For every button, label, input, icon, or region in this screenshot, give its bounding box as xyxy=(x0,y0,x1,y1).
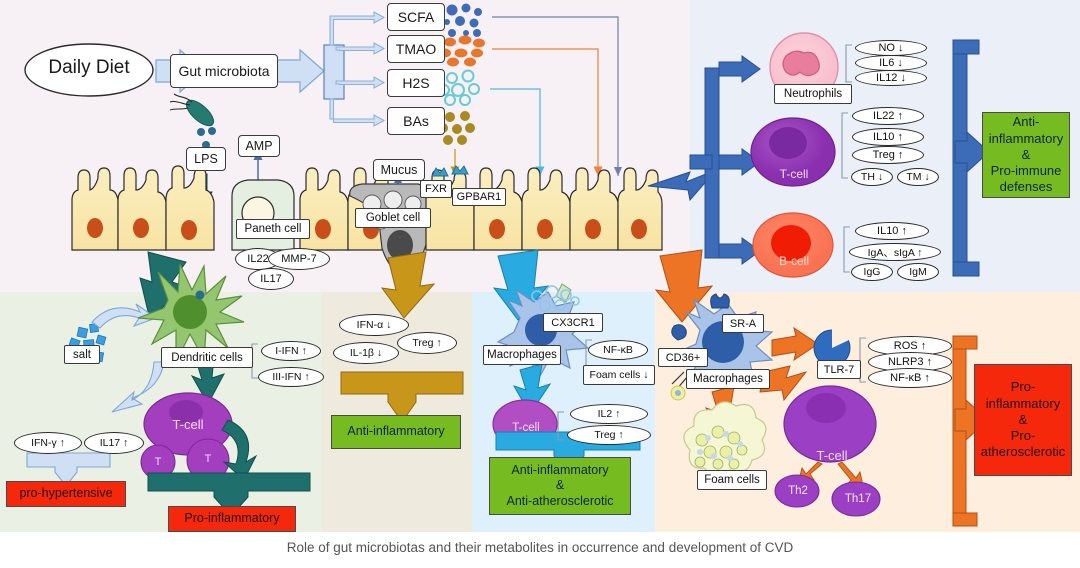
dendritic-cells-label: Dendritic cells xyxy=(161,347,253,368)
tcell-marker-il10: IL10 ↑ xyxy=(852,128,924,146)
salt-label: salt xyxy=(64,345,100,364)
tcell-small-1-label: T xyxy=(150,455,166,469)
foam-cells-cluster xyxy=(684,402,766,475)
paneth-cytokine-il17: IL17 xyxy=(248,268,294,290)
th2-label: Th2 xyxy=(783,484,813,498)
beige-marker-ifn-alpha: IFN-α ↓ xyxy=(339,314,409,336)
blue-tcell-marker-treg: Treg ↑ xyxy=(567,425,651,445)
anti-inflammatory-box: Anti-inflammatory xyxy=(331,415,461,449)
cx3cr1-label: CX3CR1 xyxy=(543,313,603,332)
macrophages-peach-label: Macrophages xyxy=(686,369,770,389)
macrophages-blue-label: Macrophages xyxy=(483,345,561,365)
splitter-bar xyxy=(324,45,344,99)
dc-cytokine-ifn-gamma: IFN-γ ↑ xyxy=(14,432,82,454)
bcell-marker-igg: IgG xyxy=(851,263,893,281)
anti-atherosclerotic-box: Anti-inflammatory & Anti-atherosclerotic xyxy=(489,457,631,515)
th17-label: Th17 xyxy=(842,492,874,506)
neutrophil-marker-il12: IL12 ↓ xyxy=(855,70,927,86)
tcell-marker-treg: Treg ↑ xyxy=(852,146,924,164)
peach-marker-nfkb: NF-κB ↑ xyxy=(868,368,952,388)
metabolite-box-tmao: TMAO xyxy=(387,35,445,63)
figure-caption: Role of gut microbiotas and their metabo… xyxy=(0,540,1080,555)
arrow-tcell-proliferate xyxy=(222,420,256,480)
blue-marker-nfkb: NF-κB xyxy=(588,340,648,360)
cd36-label: CD36+ xyxy=(658,348,708,367)
arrow-microbiota-to-split xyxy=(276,50,324,92)
paneth-cell-label: Paneth cell xyxy=(236,219,310,239)
bacterium-icon xyxy=(170,94,218,149)
figure-root: Daily Diet Gut microbiota SCFA TMAO H2S … xyxy=(0,0,1080,568)
h2s-particles xyxy=(439,71,479,106)
pro-inflammatory-box: Pro-inflammatory xyxy=(168,506,296,532)
tcell-immune-label: T-cell xyxy=(766,166,822,182)
bcell-marker-il10: IL10 ↑ xyxy=(855,222,929,240)
gut-microbiota-box: Gut microbiota xyxy=(170,54,278,88)
bcell-marker-iga: IgA、sIgA ↑ xyxy=(849,243,941,261)
arrow-macrophage-to-tlr7 xyxy=(772,328,818,360)
beige-marker-treg: Treg ↑ xyxy=(397,332,457,354)
dc-cytokine-il17: IL17 ↑ xyxy=(84,432,144,454)
tcell-small-2-label: T xyxy=(200,452,216,466)
lps-box: LPS xyxy=(186,147,226,171)
sr-a-label: SR-A xyxy=(722,314,764,333)
scfa-particles xyxy=(444,4,482,38)
amp-box: AMP xyxy=(238,135,280,157)
tmao-particles xyxy=(439,36,485,67)
tlr7-label: TLR-7 xyxy=(817,360,861,379)
daily-diet-label: Daily Diet xyxy=(34,57,144,79)
blue-marker-foam-cells: Foam cells ↓ xyxy=(583,365,655,385)
mucus-box: Mucus xyxy=(373,159,425,181)
paneth-cytokine-mmp7: MMP-7 xyxy=(268,248,330,270)
arrow-epi-to-antiinflam xyxy=(382,252,434,318)
pro-hypertensive-box: pro-hypertensive xyxy=(6,481,126,507)
tcell-blue-label: T-cell xyxy=(501,420,551,436)
metabolite-box-bas: BAs xyxy=(387,107,445,135)
gpbar1-label: GPBAR1 xyxy=(452,188,506,206)
tcell-marker-tm: TM ↓ xyxy=(897,168,939,186)
foam-cells-label: Foam cells xyxy=(697,470,767,490)
metabolite-box-scfa: SCFA xyxy=(387,3,445,31)
dc-marker-iii-ifn: III-IFN ↑ xyxy=(258,367,324,387)
tcell-dendritic-label: T-cell xyxy=(160,416,216,432)
fxr-label: FXR xyxy=(420,180,452,198)
tcell-marker-il22: IL22 ↑ xyxy=(852,107,924,125)
neutrophil-marker-il6: IL6 ↓ xyxy=(855,55,927,71)
tcell-marker-th: TH ↓ xyxy=(851,168,893,186)
neutrophils-label: Neutrophils xyxy=(774,84,852,104)
beige-marker-il1b: IL-1β ↓ xyxy=(333,342,399,364)
dc-marker-i-ifn: I-IFN ↑ xyxy=(261,341,321,361)
immune-outcome-box: Anti- inflammatory & Pro-immune defenses xyxy=(982,112,1070,198)
metabolite-box-h2s: H2S xyxy=(387,69,445,97)
bcell-marker-igm: IgM xyxy=(897,263,939,281)
goblet-cell-label: Goblet cell xyxy=(355,208,431,228)
receptor-glyphs xyxy=(432,166,468,176)
tcell-peach-label: T-cell xyxy=(804,447,860,463)
neutrophil-marker-no: NO ↓ xyxy=(855,40,927,56)
pro-atherosclerotic-box: Pro- inflammatory & Pro- atherosclerotic xyxy=(974,364,1072,476)
bcell-immune-label: B-cell xyxy=(766,253,822,269)
blue-tcell-marker-il2: IL2 ↑ xyxy=(570,404,648,424)
marker-brackets xyxy=(842,45,852,272)
immune-distribution-bracket xyxy=(690,56,760,264)
